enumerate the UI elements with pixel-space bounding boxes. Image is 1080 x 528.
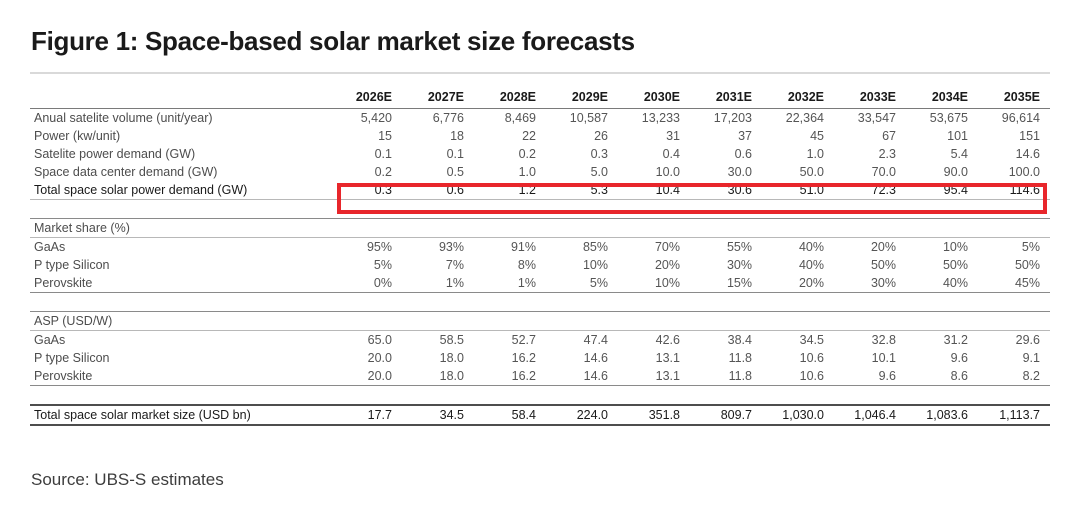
row-label: P type Silicon (30, 256, 330, 274)
cell: 22 (474, 127, 546, 145)
cell: 2.3 (834, 145, 906, 163)
cell: 51.0 (762, 181, 834, 200)
row-label: Satelite power demand (GW) (30, 145, 330, 163)
column-header-2031E: 2031E (690, 86, 762, 109)
cell: 45% (978, 274, 1050, 293)
cell: 42.6 (618, 331, 690, 350)
cell: 20% (618, 256, 690, 274)
cell: 10.4 (618, 181, 690, 200)
cell: 10% (906, 238, 978, 257)
cell: 29.6 (978, 331, 1050, 350)
cell: 14.6 (546, 349, 618, 367)
cell: 0.2 (474, 145, 546, 163)
cell: 18 (402, 127, 474, 145)
cell: 5.3 (546, 181, 618, 200)
cell: 10.6 (762, 367, 834, 386)
section-spacer (30, 200, 1050, 219)
cell: 40% (906, 274, 978, 293)
cell: 8.2 (978, 367, 1050, 386)
cell: 151 (978, 127, 1050, 145)
forecast-table-container: 2026E 2027E 2028E 2029E 2030E 2031E 2032… (30, 86, 1050, 426)
cell: 50.0 (762, 163, 834, 181)
cell: 114.6 (978, 181, 1050, 200)
cell: 1,113.7 (978, 405, 1050, 425)
cell: 13.1 (618, 367, 690, 386)
cell: 34.5 (762, 331, 834, 350)
cell: 58.4 (474, 405, 546, 425)
cell: 14.6 (546, 367, 618, 386)
title-divider (30, 72, 1050, 74)
column-header-2030E: 2030E (618, 86, 690, 109)
cell: 18.0 (402, 349, 474, 367)
cell: 20% (834, 238, 906, 257)
cell: 58.5 (402, 331, 474, 350)
cell: 1% (474, 274, 546, 293)
cell: 10% (618, 274, 690, 293)
total-spacer (30, 386, 1050, 406)
column-header-2032E: 2032E (762, 86, 834, 109)
cell: 50% (834, 256, 906, 274)
cell: 0.2 (330, 163, 402, 181)
cell: 31.2 (906, 331, 978, 350)
cell: 34.5 (402, 405, 474, 425)
cell: 10% (546, 256, 618, 274)
column-header-2026E: 2026E (330, 86, 402, 109)
cell: 0.6 (402, 181, 474, 200)
section-header-asp: ASP (USD/W) (30, 312, 1050, 331)
cell: 50% (906, 256, 978, 274)
table-row-total-power-demand: Total space solar power demand (GW) 0.3 … (30, 181, 1050, 200)
cell: 5,420 (330, 109, 402, 128)
cell: 5.0 (546, 163, 618, 181)
table-row: Perovskite 20.0 18.0 16.2 14.6 13.1 11.8… (30, 367, 1050, 386)
cell: 72.3 (834, 181, 906, 200)
cell: 55% (690, 238, 762, 257)
cell: 30.6 (690, 181, 762, 200)
cell: 1.2 (474, 181, 546, 200)
cell: 95% (330, 238, 402, 257)
cell: 1,083.6 (906, 405, 978, 425)
cell: 38.4 (690, 331, 762, 350)
cell: 0.3 (330, 181, 402, 200)
cell: 53,675 (906, 109, 978, 128)
cell: 100.0 (978, 163, 1050, 181)
cell: 1,046.4 (834, 405, 906, 425)
cell: 1,030.0 (762, 405, 834, 425)
cell: 0.6 (690, 145, 762, 163)
cell: 93% (402, 238, 474, 257)
cell: 15% (690, 274, 762, 293)
section-title: Market share (%) (30, 219, 330, 238)
column-header-2027E: 2027E (402, 86, 474, 109)
section-header-market-share: Market share (%) (30, 219, 1050, 238)
cell: 70% (618, 238, 690, 257)
cell: 30.0 (690, 163, 762, 181)
section-spacer (30, 293, 1050, 312)
cell: 9.1 (978, 349, 1050, 367)
cell: 67 (834, 127, 906, 145)
table-row-total-market-size: Total space solar market size (USD bn) 1… (30, 405, 1050, 425)
cell: 90.0 (906, 163, 978, 181)
cell: 11.8 (690, 349, 762, 367)
table-row: Power (kw/unit) 15 18 22 26 31 37 45 67 … (30, 127, 1050, 145)
cell: 40% (762, 256, 834, 274)
cell: 0.1 (402, 145, 474, 163)
table-row: P type Silicon 5% 7% 8% 10% 20% 30% 40% … (30, 256, 1050, 274)
column-header-2034E: 2034E (906, 86, 978, 109)
cell: 8,469 (474, 109, 546, 128)
cell: 17,203 (690, 109, 762, 128)
row-label: P type Silicon (30, 349, 330, 367)
cell: 5.4 (906, 145, 978, 163)
cell: 20% (762, 274, 834, 293)
row-label: Perovskite (30, 274, 330, 293)
column-header-2028E: 2028E (474, 86, 546, 109)
cell: 0.4 (618, 145, 690, 163)
row-label: Perovskite (30, 367, 330, 386)
cell: 17.7 (330, 405, 402, 425)
cell: 18.0 (402, 367, 474, 386)
table-row: GaAs 65.0 58.5 52.7 47.4 42.6 38.4 34.5 … (30, 331, 1050, 350)
section-title: ASP (USD/W) (30, 312, 330, 331)
row-label: Total space solar market size (USD bn) (30, 405, 330, 425)
column-header-2029E: 2029E (546, 86, 618, 109)
cell: 224.0 (546, 405, 618, 425)
cell: 11.8 (690, 367, 762, 386)
page-title: Figure 1: Space-based solar market size … (31, 26, 635, 57)
source-note: Source: UBS-S estimates (31, 470, 224, 490)
column-header-2033E: 2033E (834, 86, 906, 109)
cell: 1% (402, 274, 474, 293)
cell: 50% (978, 256, 1050, 274)
column-header-rowlabel (30, 86, 330, 109)
cell: 16.2 (474, 367, 546, 386)
cell: 22,364 (762, 109, 834, 128)
cell: 47.4 (546, 331, 618, 350)
table-row: Space data center demand (GW) 0.2 0.5 1.… (30, 163, 1050, 181)
cell: 10.0 (618, 163, 690, 181)
cell: 31 (618, 127, 690, 145)
cell: 9.6 (834, 367, 906, 386)
cell: 6,776 (402, 109, 474, 128)
row-label: Anual satelite volume (unit/year) (30, 109, 330, 128)
cell: 26 (546, 127, 618, 145)
cell: 10.6 (762, 349, 834, 367)
cell: 13,233 (618, 109, 690, 128)
cell: 20.0 (330, 349, 402, 367)
cell: 0.5 (402, 163, 474, 181)
cell: 96,614 (978, 109, 1050, 128)
cell: 809.7 (690, 405, 762, 425)
cell: 0.1 (330, 145, 402, 163)
cell: 13.1 (618, 349, 690, 367)
forecast-table-body: Anual satelite volume (unit/year) 5,420 … (30, 109, 1050, 426)
cell: 45 (762, 127, 834, 145)
figure-page: Figure 1: Space-based solar market size … (0, 0, 1080, 528)
row-label: GaAs (30, 331, 330, 350)
cell: 7% (402, 256, 474, 274)
row-label: Power (kw/unit) (30, 127, 330, 145)
cell: 30% (834, 274, 906, 293)
cell: 0% (330, 274, 402, 293)
row-label: Total space solar power demand (GW) (30, 181, 330, 200)
row-label: GaAs (30, 238, 330, 257)
cell: 1.0 (474, 163, 546, 181)
table-header-row: 2026E 2027E 2028E 2029E 2030E 2031E 2032… (30, 86, 1050, 109)
cell: 15 (330, 127, 402, 145)
cell: 8% (474, 256, 546, 274)
table-row: P type Silicon 20.0 18.0 16.2 14.6 13.1 … (30, 349, 1050, 367)
cell: 101 (906, 127, 978, 145)
cell: 1.0 (762, 145, 834, 163)
cell: 351.8 (618, 405, 690, 425)
row-label: Space data center demand (GW) (30, 163, 330, 181)
cell: 95.4 (906, 181, 978, 200)
cell: 9.6 (906, 349, 978, 367)
cell: 10.1 (834, 349, 906, 367)
cell: 14.6 (978, 145, 1050, 163)
cell: 65.0 (330, 331, 402, 350)
cell: 5% (546, 274, 618, 293)
table-row: Perovskite 0% 1% 1% 5% 10% 15% 20% 30% 4… (30, 274, 1050, 293)
cell: 5% (978, 238, 1050, 257)
cell: 8.6 (906, 367, 978, 386)
cell: 70.0 (834, 163, 906, 181)
cell: 40% (762, 238, 834, 257)
table-row: Anual satelite volume (unit/year) 5,420 … (30, 109, 1050, 128)
cell: 32.8 (834, 331, 906, 350)
cell: 20.0 (330, 367, 402, 386)
column-header-2035E: 2035E (978, 86, 1050, 109)
cell: 52.7 (474, 331, 546, 350)
table-row: GaAs 95% 93% 91% 85% 70% 55% 40% 20% 10%… (30, 238, 1050, 257)
cell: 16.2 (474, 349, 546, 367)
cell: 5% (330, 256, 402, 274)
cell: 33,547 (834, 109, 906, 128)
cell: 37 (690, 127, 762, 145)
cell: 85% (546, 238, 618, 257)
cell: 91% (474, 238, 546, 257)
cell: 30% (690, 256, 762, 274)
cell: 0.3 (546, 145, 618, 163)
forecast-table: 2026E 2027E 2028E 2029E 2030E 2031E 2032… (30, 86, 1050, 426)
table-row: Satelite power demand (GW) 0.1 0.1 0.2 0… (30, 145, 1050, 163)
cell: 10,587 (546, 109, 618, 128)
